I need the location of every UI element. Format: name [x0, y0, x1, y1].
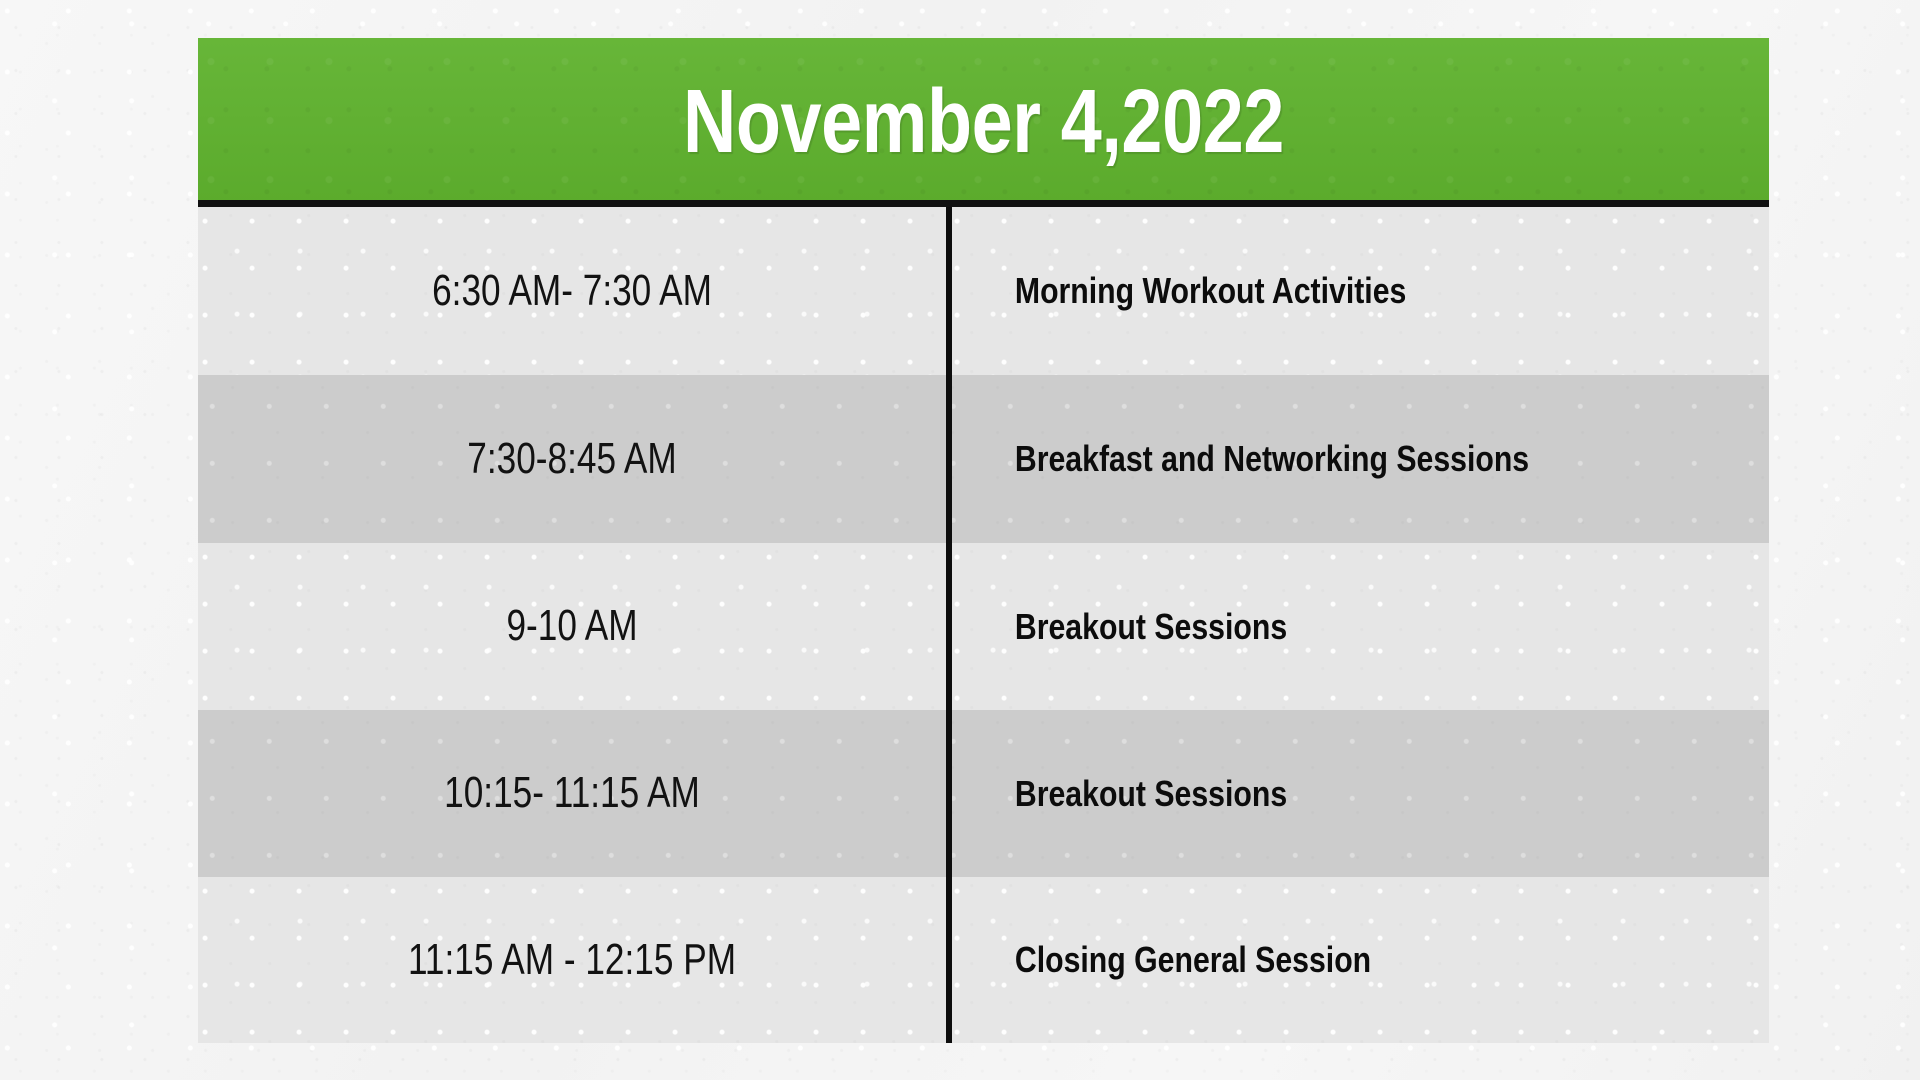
- row-activity-cell: Breakout Sessions: [946, 607, 1637, 647]
- page-title: November 4,2022: [683, 77, 1284, 167]
- row-activity-cell: Morning Workout Activities: [946, 271, 1637, 311]
- header-banner: November 4,2022: [198, 38, 1769, 200]
- row-activity-cell: Breakfast and Networking Sessions: [946, 439, 1637, 479]
- table-row[interactable]: 7:30-8:45 AM Breakfast and Networking Se…: [198, 375, 1769, 543]
- table-row[interactable]: 6:30 AM- 7:30 AM Morning Workout Activit…: [198, 207, 1769, 375]
- agenda-rows-container: 6:30 AM- 7:30 AM Morning Workout Activit…: [198, 207, 1769, 1043]
- row-time-cell: 10:15- 11:15 AM: [273, 769, 871, 817]
- agenda-table: November 4,2022 6:30 AM- 7:30 AM Morning…: [198, 38, 1769, 1043]
- header-divider-rule: [198, 200, 1769, 207]
- row-time-cell: 6:30 AM- 7:30 AM: [273, 267, 871, 315]
- row-time-cell: 9-10 AM: [273, 602, 871, 650]
- row-activity-cell: Closing General Session: [946, 940, 1637, 980]
- table-row[interactable]: 10:15- 11:15 AM Breakout Sessions: [198, 710, 1769, 877]
- table-row[interactable]: 9-10 AM Breakout Sessions: [198, 543, 1769, 710]
- row-activity-cell: Breakout Sessions: [946, 774, 1637, 814]
- row-time-cell: 7:30-8:45 AM: [273, 435, 871, 483]
- table-row[interactable]: 11:15 AM - 12:15 PM Closing General Sess…: [198, 877, 1769, 1043]
- column-divider: [946, 207, 952, 1043]
- row-time-cell: 11:15 AM - 12:15 PM: [273, 936, 871, 984]
